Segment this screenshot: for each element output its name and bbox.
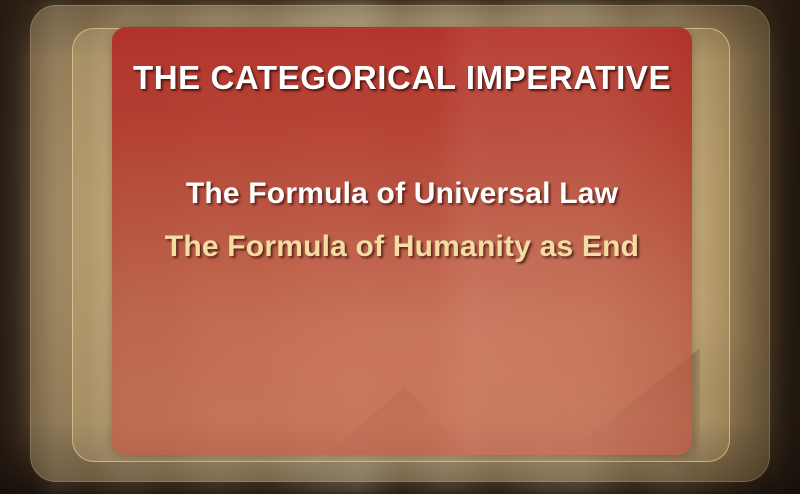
slide-text-layer: THE CATEGORICAL IMPERATIVE The Formula o… xyxy=(112,27,692,455)
slide-title: THE CATEGORICAL IMPERATIVE xyxy=(112,59,692,97)
slide-bullet-formula-universal-law: The Formula of Universal Law xyxy=(112,177,692,211)
slide-bullet-formula-humanity-as-end: The Formula of Humanity as End xyxy=(112,230,692,264)
slide-stage: THE CATEGORICAL IMPERATIVE The Formula o… xyxy=(0,0,800,494)
